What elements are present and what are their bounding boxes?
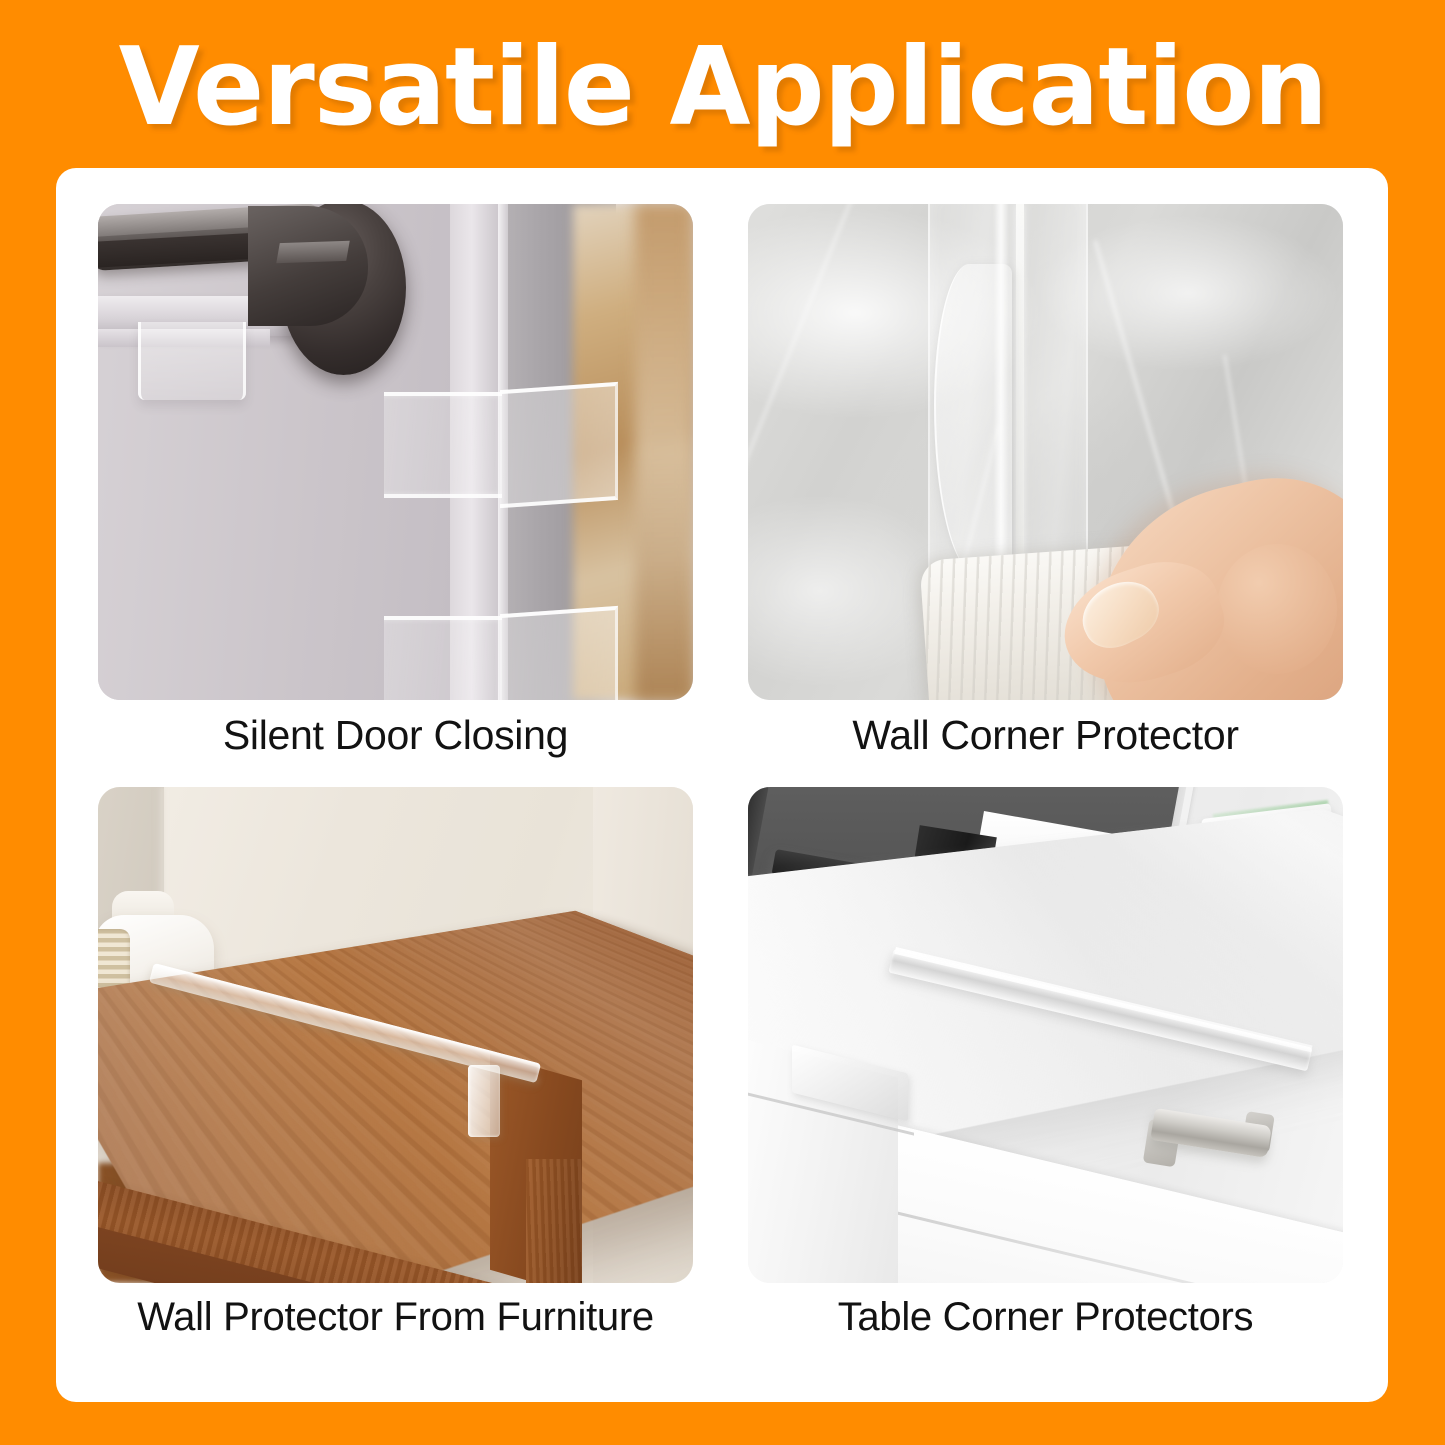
- application-grid: Silent Door Closing: [98, 204, 1346, 1370]
- corner-guard-top: [138, 322, 246, 400]
- corner-guard-front-wing: [384, 392, 502, 498]
- photo-wall-corner-protector: [748, 204, 1343, 700]
- caption-wall-protector-from-furniture: Wall Protector From Furniture: [98, 1295, 693, 1340]
- corner-guard-middle: [384, 386, 616, 504]
- application-item-silent-door-closing[interactable]: Silent Door Closing: [98, 204, 693, 787]
- content-card: Silent Door Closing: [56, 168, 1388, 1402]
- application-item-table-corner-protectors[interactable]: Table Corner Protectors: [748, 787, 1343, 1370]
- corner-guard-side-wing: [500, 606, 618, 700]
- wood-grain: [526, 1159, 582, 1283]
- application-item-wall-corner-protector[interactable]: Wall Corner Protector: [748, 204, 1343, 787]
- caption-table-corner-protectors: Table Corner Protectors: [748, 1295, 1343, 1340]
- header-bar: Versatile Application: [0, 0, 1445, 168]
- photo-table-corner-protectors: [748, 787, 1343, 1283]
- clear-protector-strip-end-cap: [468, 1065, 500, 1137]
- background-bedding-fold: [635, 204, 693, 700]
- desk-leg: [526, 1159, 582, 1283]
- corner-guard-front-wing: [384, 616, 502, 700]
- photo-silent-door-closing: [98, 204, 693, 700]
- caption-silent-door-closing: Silent Door Closing: [98, 712, 693, 759]
- door-handle-tip: [276, 241, 350, 264]
- door-handle-neck: [248, 206, 368, 326]
- page-title: Versatile Application: [118, 26, 1326, 142]
- application-item-wall-protector-from-furniture[interactable]: Wall Protector From Furniture: [98, 787, 693, 1370]
- hand-knuckle: [1217, 544, 1337, 674]
- corner-guard-bottom: [384, 610, 616, 700]
- caption-wall-corner-protector: Wall Corner Protector: [748, 712, 1343, 759]
- corner-guard-side-wing: [500, 382, 618, 508]
- photo-wall-protector-from-furniture: [98, 787, 693, 1283]
